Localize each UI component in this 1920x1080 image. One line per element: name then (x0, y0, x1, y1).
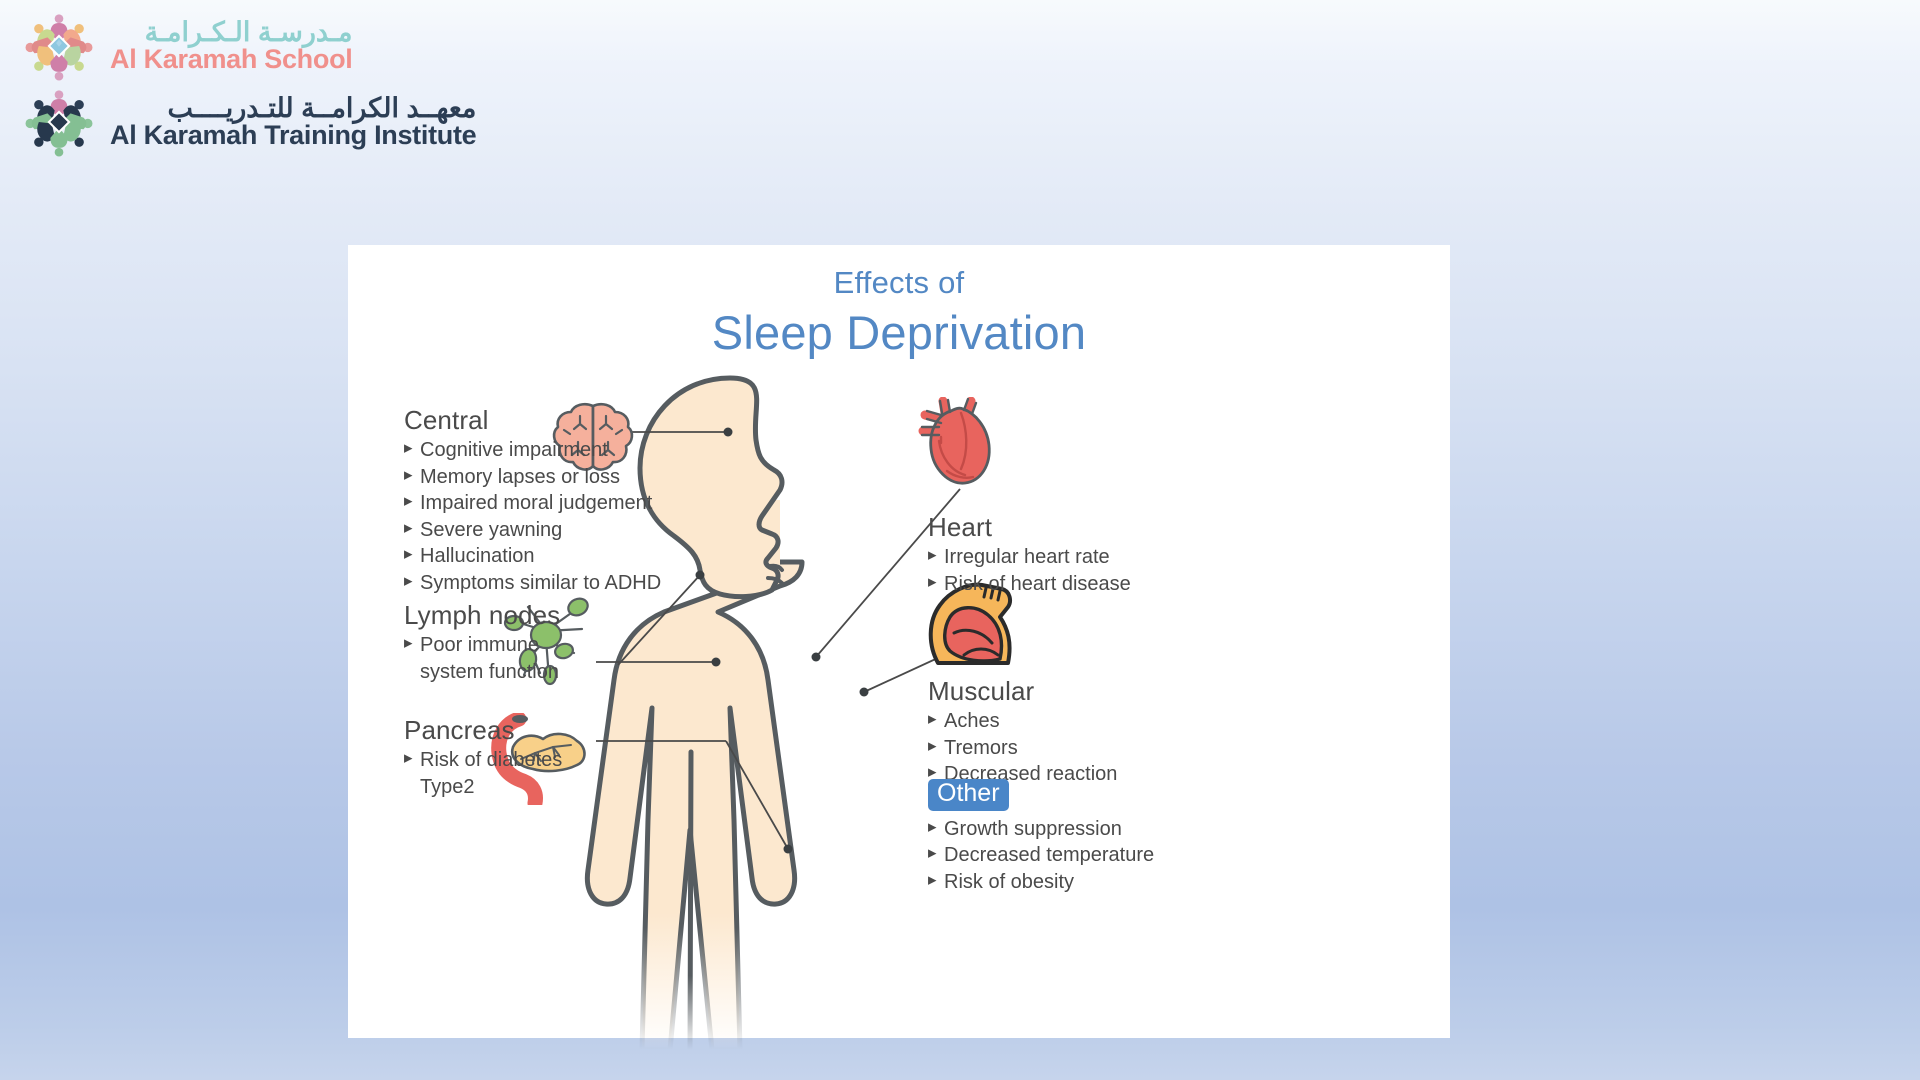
section-central: Central Cognitive impairment Memory laps… (404, 405, 661, 597)
list-item: Irregular heart rate (928, 544, 1131, 571)
list-item: Impaired moral judgement (404, 490, 661, 517)
brand-school: مـدرسـة الـكـرامـة Al Karamah School (18, 10, 476, 82)
list-item-continuation: system function (404, 659, 560, 686)
brand-institute-arabic: معهــد الكرامــة للتـدريــــب (110, 95, 476, 122)
heart-icon (911, 397, 1003, 493)
branding-block: مـدرسـة الـكـرامـة Al Karamah School (18, 10, 476, 158)
list-item: Risk of diabetes (404, 747, 562, 774)
section-muscular-heading: Muscular (928, 676, 1117, 707)
section-muscular: Muscular Aches Tremors Decreased reactio… (928, 676, 1117, 788)
section-heart: Heart Irregular heart rate Risk of heart… (928, 512, 1131, 597)
section-muscular-list: Aches Tremors Decreased reaction (928, 708, 1117, 788)
list-item: Tremors (928, 735, 1117, 762)
section-lymph-nodes-list: Poor immune system function (404, 632, 560, 685)
brand-school-text: مـدرسـة الـكـرامـة Al Karamah School (110, 19, 352, 73)
list-item: Hallucination (404, 543, 661, 570)
brand-institute: معهــد الكرامــة للتـدريــــب Al Karamah… (18, 86, 476, 158)
section-other-list: Growth suppression Decreased temperature… (928, 816, 1154, 896)
section-heart-heading: Heart (928, 512, 1131, 543)
list-item-continuation: Type2 (404, 774, 562, 801)
section-pancreas: Pancreas Risk of diabetes Type2 (404, 715, 562, 800)
list-item: Cognitive impairment (404, 437, 661, 464)
list-item: Memory lapses or loss (404, 464, 661, 491)
section-heart-list: Irregular heart rate Risk of heart disea… (928, 544, 1131, 597)
section-other-badge: Other (928, 779, 1009, 811)
infographic-card: Effects of Sleep Deprivation (348, 245, 1450, 1038)
list-item: Aches (928, 708, 1117, 735)
section-pancreas-list: Risk of diabetes Type2 (404, 747, 562, 800)
list-item: Risk of obesity (928, 869, 1154, 896)
section-central-list: Cognitive impairment Memory lapses or lo… (404, 437, 661, 597)
section-other: Other Growth suppression Decreased tempe… (928, 779, 1154, 895)
floral-star-logo-pastel (18, 10, 100, 82)
section-lymph-nodes-heading: Lymph nodes (404, 600, 560, 631)
list-item: Poor immune (404, 632, 560, 659)
list-item: Risk of heart disease (928, 571, 1131, 598)
title-eyebrow: Effects of (348, 265, 1450, 301)
list-item: Growth suppression (928, 816, 1154, 843)
list-item: Decreased temperature (928, 842, 1154, 869)
brand-school-arabic: مـدرسـة الـكـرامـة (110, 19, 352, 46)
section-lymph-nodes: Lymph nodes Poor immune system function (404, 600, 560, 685)
section-pancreas-heading: Pancreas (404, 715, 562, 746)
section-central-heading: Central (404, 405, 661, 436)
poster-title: Effects of Sleep Deprivation (348, 245, 1450, 360)
list-item: Symptoms similar to ADHD (404, 570, 661, 597)
brand-institute-english: Al Karamah Training Institute (110, 122, 476, 149)
brand-institute-text: معهــد الكرامــة للتـدريــــب Al Karamah… (110, 95, 476, 149)
list-item: Severe yawning (404, 517, 661, 544)
floral-star-logo-navy (18, 86, 100, 158)
brand-school-english: Al Karamah School (110, 46, 352, 73)
